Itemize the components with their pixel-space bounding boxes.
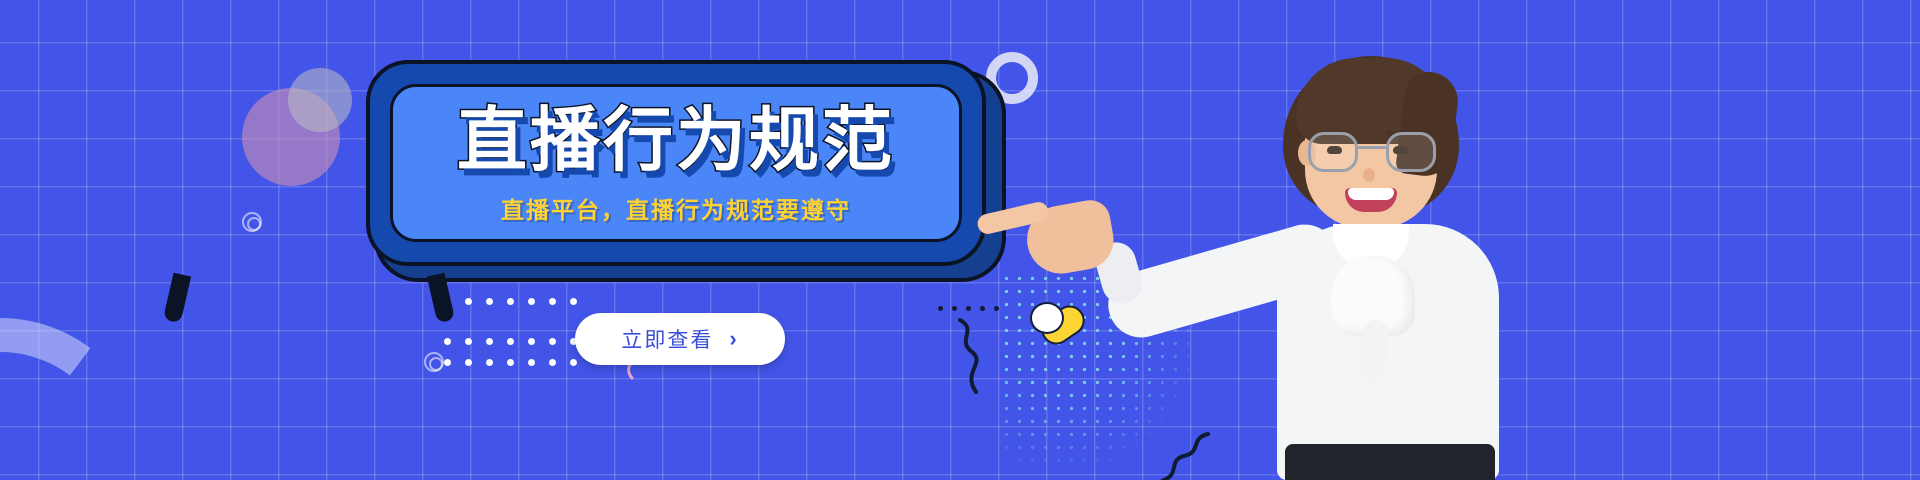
glasses-icon	[1308, 132, 1436, 172]
chevron-right-icon: ›	[729, 328, 738, 350]
ring-small-board-icon	[424, 352, 444, 372]
dot-row-dark-icon	[938, 306, 999, 311]
page-subtitle: 直播平台，直播行为规范要遵守	[501, 191, 851, 225]
dot-matrix-upper-icon	[444, 298, 577, 305]
skirt	[1285, 444, 1495, 480]
lens-left	[1308, 132, 1358, 172]
signboard-panel: 直播行为规范 直播平台，直播行为规范要遵守	[390, 84, 962, 242]
teeth	[1348, 188, 1394, 200]
pill-white-icon	[1030, 302, 1064, 334]
presenter-photo	[1165, 28, 1585, 480]
page-title: 直播行为规范	[457, 105, 895, 175]
lens-right	[1386, 132, 1436, 172]
promo-banner: 直播行为规范 直播平台，直播行为规范要遵守 立即查看 ›	[0, 0, 1920, 480]
ring-small-left-icon	[242, 212, 262, 232]
dot-matrix-lower-icon	[444, 338, 577, 366]
nose	[1363, 168, 1375, 182]
glasses-bridge	[1358, 146, 1386, 149]
squiggle-dark-icon	[952, 318, 994, 394]
signboard-frame: 直播行为规范 直播平台，直播行为规范要遵守	[366, 60, 986, 266]
circle-grey-icon	[288, 68, 352, 132]
view-now-label: 立即查看	[621, 324, 713, 354]
signboard: 直播行为规范 直播平台，直播行为规范要遵守	[366, 60, 1006, 282]
view-now-button[interactable]: 立即查看 ›	[575, 313, 785, 365]
